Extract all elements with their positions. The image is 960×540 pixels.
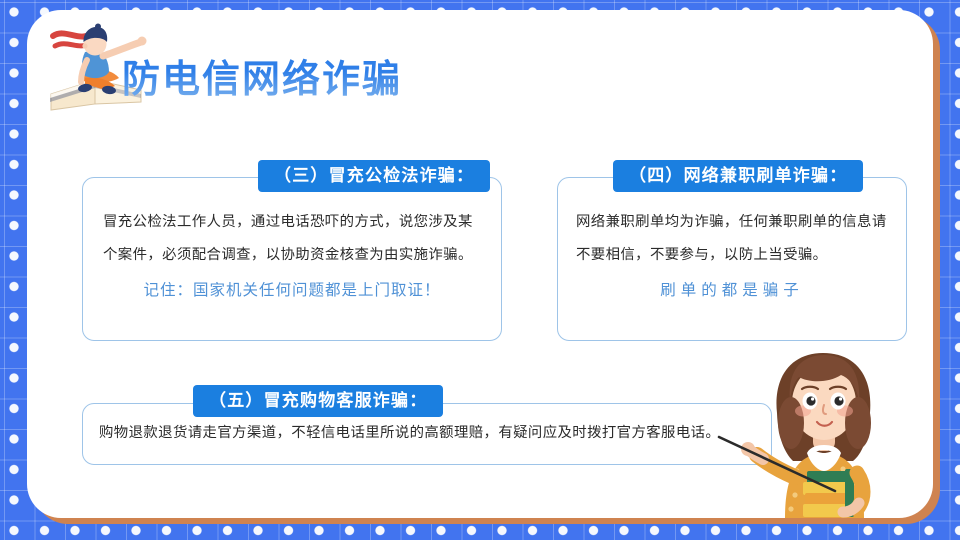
slide-header: 防电信网络诈骗: [27, 10, 933, 122]
card-five-body: 购物退款退货请走官方渠道，不轻信电话里所说的高额理赔，有疑问应及时拨打官方客服电…: [99, 418, 759, 448]
card-four-body: 网络兼职刷单均为诈骗，任何兼职刷单的信息请不要相信，不要参与，以防上当受骗。: [576, 206, 892, 272]
card-four-badge: （四）网络兼职刷单诈骗：: [613, 160, 863, 192]
card-fake-law-enforcement: （三）冒充公检法诈骗： 冒充公检法工作人员，通过电话恐吓的方式，说您涉及某个案件…: [82, 177, 502, 341]
page-title: 防电信网络诈骗: [122, 48, 402, 103]
slide-panel: 防电信网络诈骗 （三）冒充公检法诈骗： 冒充公检法工作人员，通过电话恐吓的方式，…: [27, 10, 933, 518]
card-three-highlight: 记住：国家机关任何问题都是上门取证！: [83, 274, 501, 307]
card-three-badge: （三）冒充公检法诈骗：: [258, 160, 490, 192]
card-online-parttime-scam: （四）网络兼职刷单诈骗： 网络兼职刷单均为诈骗，任何兼职刷单的信息请不要相信，不…: [557, 177, 907, 341]
teacher-with-pointer-illustration: [733, 343, 923, 518]
card-fake-shopping-service: （五）冒充购物客服诈骗： 购物退款退货请走官方渠道，不轻信电话里所说的高额理赔，…: [82, 403, 772, 465]
card-three-body: 冒充公检法工作人员，通过电话恐吓的方式，说您涉及某个案件，必须配合调查，以协助资…: [103, 206, 485, 272]
card-five-badge: （五）冒充购物客服诈骗：: [193, 385, 443, 417]
card-four-highlight: 刷单的都是骗子: [558, 274, 906, 307]
